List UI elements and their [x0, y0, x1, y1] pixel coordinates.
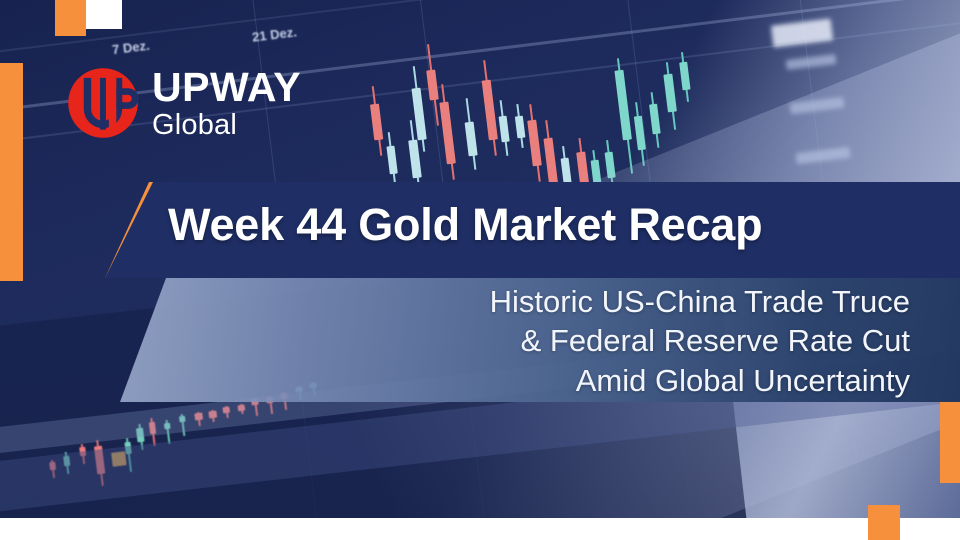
accent-bottom-right-rect [868, 505, 900, 540]
bottom-white-strip [0, 518, 960, 540]
subtitle-block: Historic US-China Trade Truce & Federal … [180, 282, 910, 400]
accent-left-vertical-bar [0, 63, 23, 281]
brand-logo-text: UPWAY Global [152, 67, 301, 140]
slide-canvas: 7 Dez. 21 Dez. [0, 0, 960, 540]
page-title: Week 44 Gold Market Recap [168, 192, 928, 258]
top-white-notch [86, 0, 122, 29]
brand-logo: UPWAY Global [66, 66, 301, 140]
subtitle-line-2: & Federal Reserve Rate Cut [521, 321, 910, 361]
accent-top-left-rect [55, 0, 86, 36]
subtitle-line-3: Amid Global Uncertainty [576, 361, 910, 401]
brand-name-secondary: Global [152, 111, 301, 140]
brand-name-primary: UPWAY [152, 67, 301, 108]
accent-right-vertical-bar [940, 401, 960, 483]
subtitle-line-1: Historic US-China Trade Truce [490, 282, 910, 322]
upway-circular-monogram-icon [66, 66, 140, 140]
